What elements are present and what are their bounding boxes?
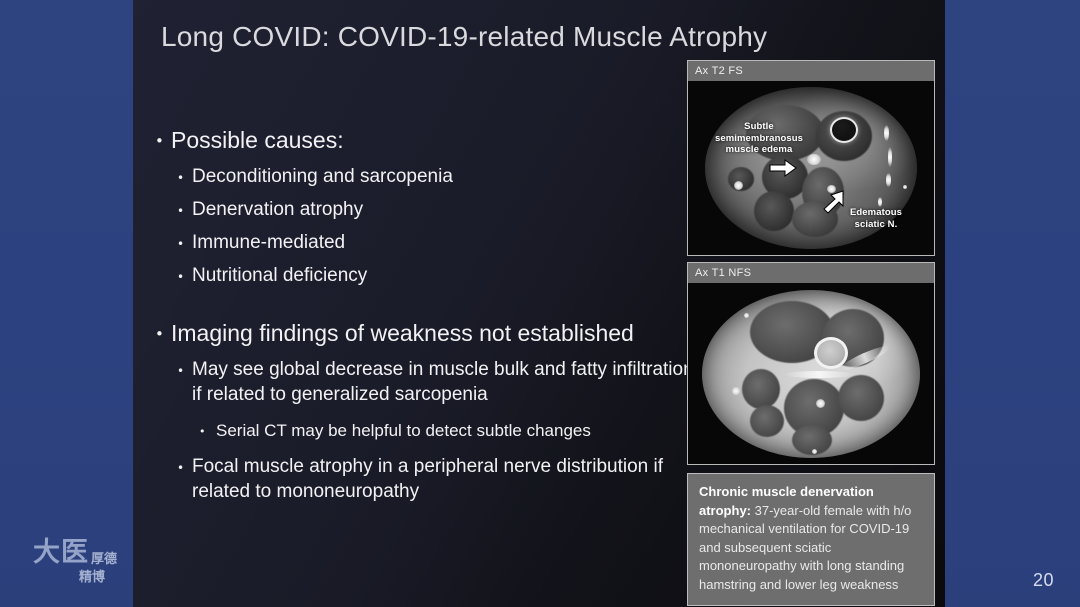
bullet-item: • May see global decrease in muscle bulk… xyxy=(177,357,695,407)
arrow-icon-sciatic xyxy=(821,189,847,215)
bullet-glyph-icon: • xyxy=(177,197,192,217)
page-title: Long COVID: COVID-19-related Muscle Atro… xyxy=(161,21,767,53)
bullet-glyph-icon: • xyxy=(155,318,171,342)
bullet-item: • Denervation atrophy xyxy=(177,197,695,222)
bullet-glyph-icon: • xyxy=(177,164,192,184)
bullet-text: Serial CT may be helpful to detect subtl… xyxy=(216,419,695,442)
bullet-item: • Immune-mediated xyxy=(177,230,695,255)
mri-image-t1 xyxy=(688,283,934,464)
bullet-text: Nutritional deficiency xyxy=(192,263,695,288)
mri-panel-t2: Ax T2 FS xyxy=(687,60,935,256)
mri-panel-t2-header: Ax T2 FS xyxy=(688,61,934,81)
bullet-text: Imaging findings of weakness not establi… xyxy=(171,318,695,348)
bullet-glyph-icon: • xyxy=(177,230,192,250)
bullet-glyph-icon: • xyxy=(155,125,171,149)
slide-canvas: Long COVID: COVID-19-related Muscle Atro… xyxy=(133,0,945,607)
bullet-text: Focal muscle atrophy in a peripheral ner… xyxy=(192,454,695,504)
bullet-subitem: • Serial CT may be helpful to detect sub… xyxy=(199,419,695,442)
slide-body: • Possible causes: • Deconditioning and … xyxy=(155,125,695,505)
bullet-glyph-icon: • xyxy=(177,357,192,377)
bullet-glyph-icon: • xyxy=(199,419,216,437)
mri-annotation-edema: Subtle semimembranosus muscle edema xyxy=(712,121,806,156)
page-number: 20 xyxy=(1033,570,1054,591)
bullet-section1-heading: • Possible causes: xyxy=(155,125,695,155)
bullet-text: Immune-mediated xyxy=(192,230,695,255)
bullet-text: Possible causes: xyxy=(171,125,695,155)
bullet-item: • Nutritional deficiency xyxy=(177,263,695,288)
mri-panel-t1: Ax T1 NFS xyxy=(687,262,935,465)
figure-column: Ax T2 FS xyxy=(687,60,935,606)
bullet-section2-heading: • Imaging findings of weakness not estab… xyxy=(155,318,695,348)
bullet-text: May see global decrease in muscle bulk a… xyxy=(192,357,695,407)
bullet-text: Denervation atrophy xyxy=(192,197,695,222)
figure-caption: Chronic muscle denervation atrophy: 37-y… xyxy=(687,473,935,606)
mri-panel-t1-header: Ax T1 NFS xyxy=(688,263,934,283)
bullet-glyph-icon: • xyxy=(177,454,192,474)
bullet-item: • Focal muscle atrophy in a peripheral n… xyxy=(177,454,695,504)
bullet-text: Deconditioning and sarcopenia xyxy=(192,164,695,189)
mri-image-t2: Subtle semimembranosus muscle edema Edem… xyxy=(688,81,934,255)
arrow-icon-edema xyxy=(768,157,798,179)
bullet-glyph-icon: • xyxy=(177,263,192,283)
bullet-item: • Deconditioning and sarcopenia xyxy=(177,164,695,189)
